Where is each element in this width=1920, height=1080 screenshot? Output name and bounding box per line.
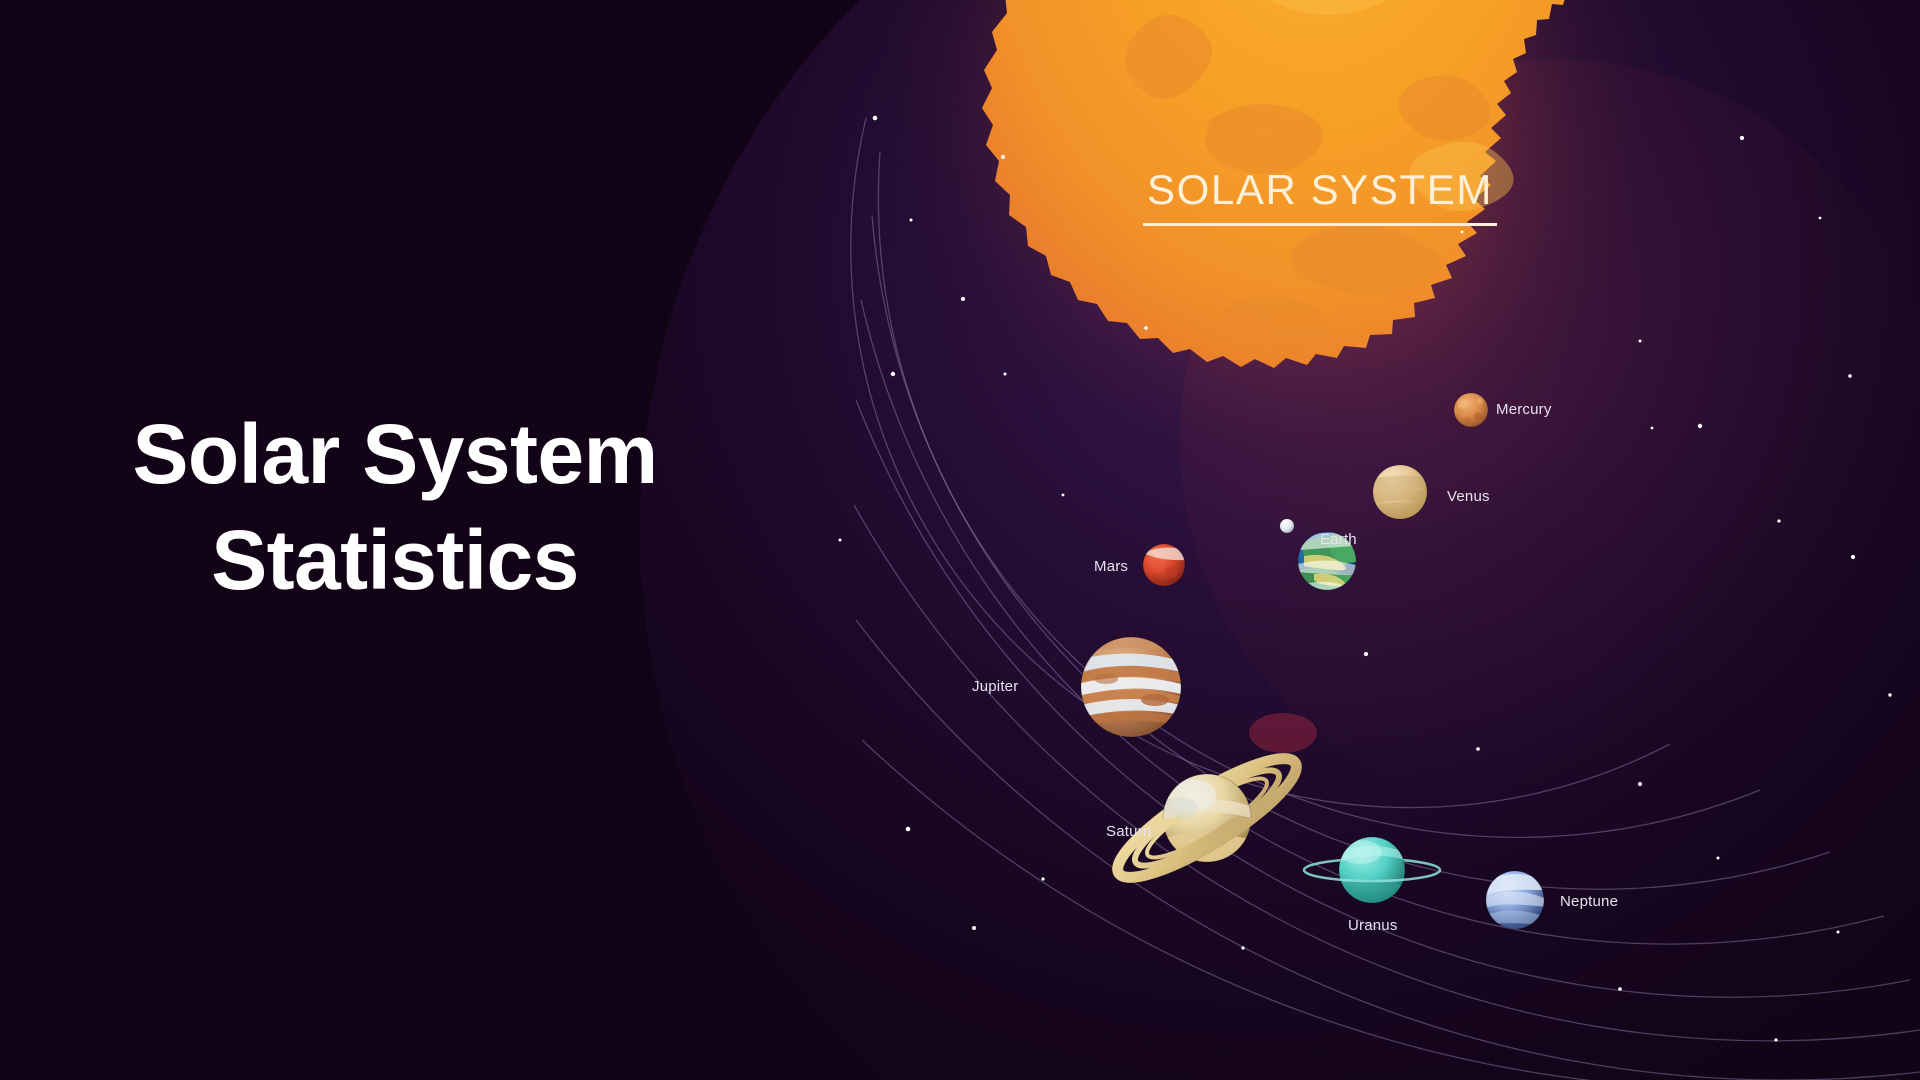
planet-label-mercury: Mercury [1496, 401, 1552, 418]
sun [850, 0, 1690, 500]
earth-moon [1280, 519, 1294, 533]
page-title: Solar System Statistics [0, 402, 790, 614]
planet-venus[interactable] [1368, 465, 1452, 525]
planet-mercury[interactable] [1454, 393, 1488, 427]
planet-uranus[interactable] [1304, 837, 1440, 922]
planet-label-uranus: Uranus [1348, 917, 1398, 934]
planet-label-jupiter: Jupiter [972, 678, 1018, 695]
planet-mars[interactable] [1143, 544, 1199, 602]
planet-label-earth: Earth [1320, 531, 1357, 548]
page-title-line-2: Statistics [0, 508, 790, 614]
sun-heading-label: SOLAR SYSTEM [1143, 168, 1497, 212]
planet-saturn[interactable] [1105, 713, 1317, 895]
planet-label-neptune: Neptune [1560, 893, 1618, 910]
planet-label-mars: Mars [1094, 558, 1128, 575]
poster-canvas: Solar System Statistics SOLAR SYSTEM Mer… [0, 0, 1920, 1080]
page-title-line-1: Solar System [0, 402, 790, 508]
planet-label-saturn: Saturn [1106, 823, 1151, 840]
sun-heading-underline [1143, 223, 1497, 226]
planet-label-venus: Venus [1447, 488, 1490, 505]
planet-jupiter[interactable] [1081, 637, 1181, 737]
sun-heading: SOLAR SYSTEM [1143, 168, 1497, 226]
